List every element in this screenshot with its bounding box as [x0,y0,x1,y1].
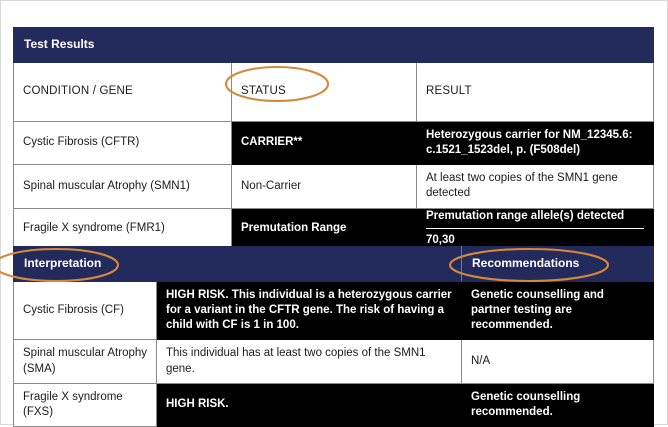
table-row: Spinal muscular Atrophy (SMA) This indiv… [14,340,654,383]
recommendation-cell: N/A [462,340,654,383]
table-row: Fragile X syndrome (FXS) HIGH RISK. Gene… [14,383,654,426]
condition-cell: Cystic Fibrosis (CFTR) [14,121,232,164]
status-cell: Non-Carrier [232,165,417,208]
table-row: Cystic Fibrosis (CF) HIGH RISK. This ind… [14,281,654,340]
interpretation-table: Interpretation Recommendations Cystic Fi… [13,246,654,427]
result-line-secondary: 70,30 [426,229,644,248]
column-header-condition-gene: CONDITION / GENE [14,62,232,121]
status-cell: CARRIER** [232,121,417,164]
condition-cell: Spinal muscular Atrophy (SMN1) [14,165,232,208]
result-cell: Premutation range allele(s) detected 70,… [417,208,654,248]
table-row: Fragile X syndrome (FMR1) Premutation Ra… [14,208,654,248]
condition-cell: Spinal muscular Atrophy (SMA) [14,340,157,383]
result-stack: Premutation range allele(s) detected 70,… [426,209,644,248]
condition-cell: Cystic Fibrosis (CF) [14,281,157,340]
result-cell: Heterozygous carrier for NM_12345.6: c.1… [417,121,654,164]
recommendation-cell: Genetic counselling and partner testing … [462,281,654,340]
test-results-banner-row: Test Results [14,28,654,63]
column-header-result: RESULT [417,62,654,121]
result-line-primary: Premutation range allele(s) detected [426,209,644,229]
condition-cell: Fragile X syndrome (FXS) [14,383,157,426]
column-header-status: STATUS [232,62,417,121]
test-results-table: Test Results CONDITION / GENE STATUS RES… [13,27,654,249]
condition-cell: Fragile X syndrome (FMR1) [14,208,232,248]
status-cell: Premutation Range [232,208,417,248]
table-row: Cystic Fibrosis (CFTR) CARRIER** Heteroz… [14,121,654,164]
interpretation-cell: This individual has at least two copies … [157,340,462,383]
interpretation-banner-label: Interpretation [14,247,462,282]
result-cell: At least two copies of the SMN1 gene det… [417,165,654,208]
table-row: Spinal muscular Atrophy (SMN1) Non-Carri… [14,165,654,208]
report-page: Test Results CONDITION / GENE STATUS RES… [0,0,668,425]
interpretation-cell: HIGH RISK. This individual is a heterozy… [157,281,462,340]
recommendation-cell: Genetic counselling recommended. [462,383,654,426]
test-results-header-row: CONDITION / GENE STATUS RESULT [14,62,654,121]
interpretation-banner-row: Interpretation Recommendations [14,247,654,282]
test-results-banner-label: Test Results [14,28,654,63]
interpretation-cell: HIGH RISK. [157,383,462,426]
recommendations-banner-label: Recommendations [462,247,654,282]
